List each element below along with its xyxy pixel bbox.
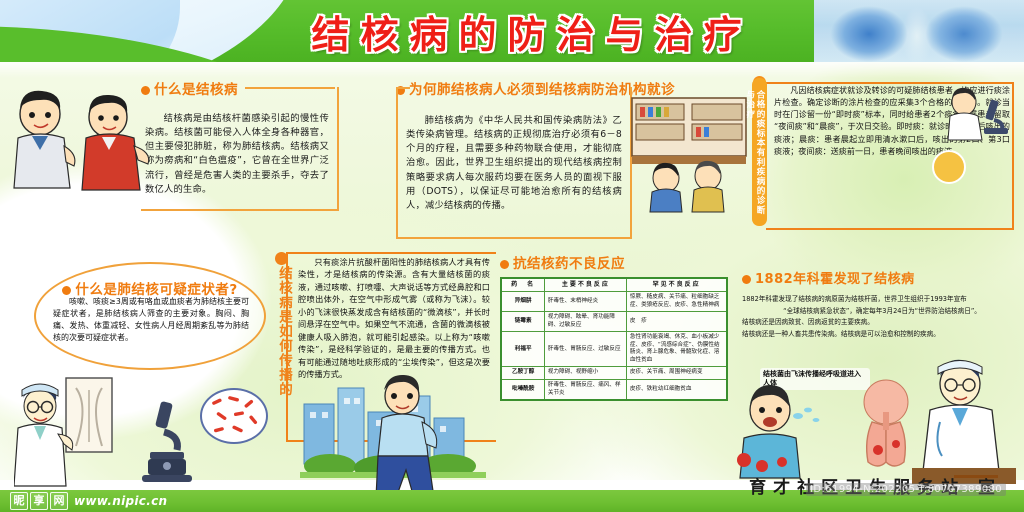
decorative-badge-icon xyxy=(932,150,966,184)
table-row: 异烟肼 肝毒性、末梢神经炎 惊厥、糙皮病、关节痛、粒细胞缺乏症、类狼疮反应、皮疹… xyxy=(501,292,727,312)
watermark-url: www.nipic.cn xyxy=(74,494,167,508)
cell-rare-reaction: 皮 疹 xyxy=(627,312,727,332)
koch-line-1: 1882年科霍发现了结核病的病原菌为结核杆菌，世界卫生组织于1993年宣布 xyxy=(742,294,1022,305)
koch-line-3: 结核病还是因病致贫、因病返贫的主要疾病。 xyxy=(742,317,1022,328)
section-suspected-body: 咳嗽、咳痰≥3周或有咯血或血痰者为肺结核主要可疑症状者，是肺结核病人筛查的主要对… xyxy=(53,296,249,344)
section-suspected-title: 什么是肺结核可疑症状者? xyxy=(36,278,264,298)
table-row: 利福平 肝毒性、胃肠反应、过敏反应 急性肾功能衰竭、休克、血小板减少症、皮疹、“… xyxy=(501,332,727,367)
section-transmission-body: 只有痰涂片抗酸杆菌阳性的肺结核病人才具有传染性，才是结核病的传染源。含有大量结核… xyxy=(298,256,490,381)
page-title: 结核病的防治与治疗 xyxy=(0,0,1024,62)
bullet-dot-icon xyxy=(742,275,751,284)
column-header-main-reaction: 主要不良反应 xyxy=(545,278,627,292)
cell-drug-name: 异烟肼 xyxy=(501,292,545,312)
section-what-is-tb-body: 结核病是由结核杆菌感染引起的慢性传染病。结核菌可能侵入人体全身各种器官，但主要侵… xyxy=(141,112,337,197)
site-watermark: 昵 享 网 www.nipic.cn xyxy=(10,492,167,510)
section-what-is-tb-rule xyxy=(245,87,335,89)
section-transmission-vertical-title: 结核病是如何传播的 xyxy=(274,266,291,397)
section-what-is-tb: 什么是结核病 结核病是由结核杆菌感染引起的慢性传染病。结核菌可能侵入人体全身各种… xyxy=(141,78,337,197)
illustration-coughing-child xyxy=(736,376,832,480)
column-header-drug-name: 药 名 xyxy=(501,278,545,292)
section-why-clinic-rule xyxy=(396,87,410,89)
cell-drug-name: 利福平 xyxy=(501,332,545,367)
section-koch-body: 1882年科霍发现了结核病的病原菌为结核杆菌，世界卫生组织于1993年宣布 “全… xyxy=(742,294,1022,340)
section-adverse-title-text: 抗结核药不良反应 xyxy=(513,256,625,272)
section-why-clinic-body: 肺结核病为《中华人民共和国传染病防法》乙类传染病管理。结核病的正规彻底治疗必须有… xyxy=(396,114,632,213)
illustration-clinic-scene xyxy=(630,96,748,214)
cell-rare-reaction: 皮疹、关节痛、周围神经病变 xyxy=(627,367,727,380)
bullet-dot-icon xyxy=(62,286,71,295)
illustration-bacteria-bubble xyxy=(200,388,268,444)
watermark-char-2: 享 xyxy=(30,492,48,510)
section-what-is-tb-title-text: 什么是结核病 xyxy=(154,82,238,98)
illustration-doctor-xray xyxy=(14,372,134,490)
table-row: 吡嗪酰胺 肝毒性、胃肠反应、痛风、样关节炎 皮疹、铁粒幼红细胞贫血 xyxy=(501,380,727,401)
section-why-clinic: 为何肺结核病人必须到结核病防治机构就诊 肺结核病为《中华人民共和国传染病防法》乙… xyxy=(396,78,632,213)
koch-line-2: “全球结核病紧急状态”，确定每年3月24日为“世界防治结核病日”。 xyxy=(742,306,1022,317)
bullet-dot-icon xyxy=(275,252,288,265)
cell-main-reaction: 肝毒性、末梢神经炎 xyxy=(545,292,627,312)
cell-rare-reaction: 急性肾功能衰竭、休克、血小板减少症、皮疹、“流感综合症”、伪膜性结肠炎、肾上腺危… xyxy=(627,332,727,367)
illustration-man-red-jacket xyxy=(78,92,152,196)
column-header-rare-reaction: 罕见不良反应 xyxy=(627,278,727,292)
cell-main-reaction: 肝毒性、胃肠反应、痛风、样关节炎 xyxy=(545,380,627,401)
watermark-char-3: 网 xyxy=(50,492,68,510)
section-koch-title: 1882年科霍发现了结核病 xyxy=(742,268,1022,287)
watermark-logo: 昵 享 网 xyxy=(10,492,68,510)
watermark-id: ID:61994-N:202205-T:80707389080 xyxy=(806,483,1006,496)
koch-line-4: 结核病还是一种人畜共患传染病。结核病是可以治愈和控制的疾病。 xyxy=(742,329,1022,340)
cell-drug-name: 吡嗪酰胺 xyxy=(501,380,545,401)
poster-root: 结核病的防治与治疗 什么是结核病 结核病是由结核杆菌感染引起的慢性传染病。结核菌… xyxy=(0,0,1024,512)
header-fade xyxy=(0,62,1024,78)
section-sputum-vertical-title: 合格的痰标本有利疾病的诊断与治疗 xyxy=(752,78,767,226)
microscope-icon xyxy=(942,84,1012,144)
section-suspected-symptoms: 什么是肺结核可疑症状者? 咳嗽、咳痰≥3周或有咯血或血痰者为肺结核主要可疑症状者… xyxy=(34,262,266,370)
cell-drug-name: 乙胺丁醇 xyxy=(501,367,545,380)
cell-main-reaction: 视力障碍、视野缩小 xyxy=(545,367,627,380)
table-row: 乙胺丁醇 视力障碍、视野缩小 皮疹、关节痛、周围神经病变 xyxy=(501,367,727,380)
cell-main-reaction: 肝毒性、胃肠反应、过敏反应 xyxy=(545,332,627,367)
section-koch-title-text: 1882年科霍发现了结核病 xyxy=(755,272,915,287)
section-adverse-title: 抗结核药不良反应 xyxy=(500,252,732,272)
section-adverse-reactions: 抗结核药不良反应 药 名 主要不良反应 罕见不良反应 异烟肼 肝毒性、末梢神经炎… xyxy=(500,252,732,401)
illustration-walking-man xyxy=(352,372,472,504)
section-sputum-sample: 合格的痰标本有利疾病的诊断与治疗 凡因结核病症状就诊及转诊的可疑肺结核患者，均应… xyxy=(752,78,1018,230)
illustration-microscope xyxy=(140,398,200,484)
bullet-dot-icon xyxy=(500,260,509,269)
cell-main-reaction: 视力障碍、眩晕、肾功能障碍、过敏反应 xyxy=(545,312,627,332)
cell-rare-reaction: 皮疹、铁粒幼红细胞贫血 xyxy=(627,380,727,401)
cell-rare-reaction: 惊厥、糙皮病、关节痛、粒细胞缺乏症、类狼疮反应、皮疹、急性精神病 xyxy=(627,292,727,312)
illustration-man-pointing xyxy=(8,88,78,196)
watermark-char-1: 昵 xyxy=(10,492,28,510)
table-row: 链霉素 视力障碍、眩晕、肾功能障碍、过敏反应 皮 疹 xyxy=(501,312,727,332)
cell-drug-name: 链霉素 xyxy=(501,312,545,332)
adverse-reaction-table: 药 名 主要不良反应 罕见不良反应 异烟肼 肝毒性、末梢神经炎 惊厥、糙皮病、关… xyxy=(500,277,728,401)
illustration-doctor-right xyxy=(912,352,1016,484)
section-koch-1882: 1882年科霍发现了结核病 1882年科霍发现了结核病的病原菌为结核杆菌，世界卫… xyxy=(742,268,1022,341)
table-header-row: 药 名 主要不良反应 罕见不良反应 xyxy=(501,278,727,292)
